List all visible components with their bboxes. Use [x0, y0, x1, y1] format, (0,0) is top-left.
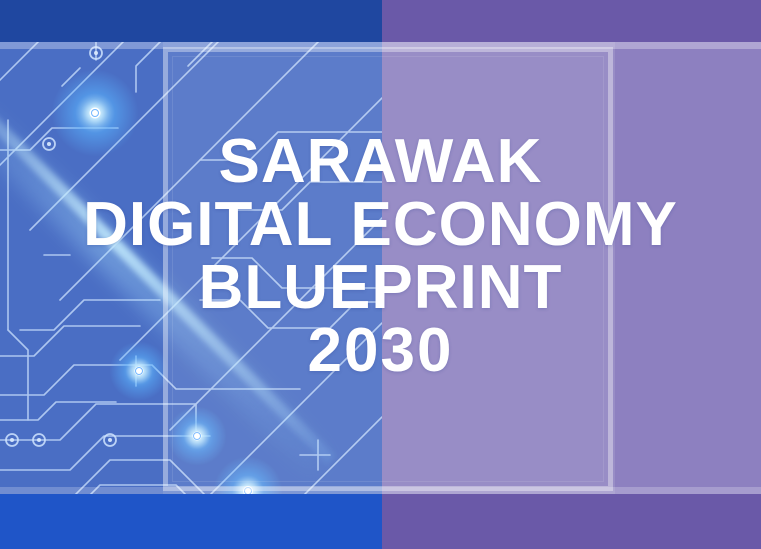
- top-band-blue: [0, 0, 382, 42]
- top-band-purple: [382, 0, 761, 42]
- decorative-square-frame-inner: [172, 56, 604, 482]
- bottom-band-purple: [382, 494, 761, 549]
- top-highlight-band: [0, 42, 761, 49]
- bottom-highlight-band: [0, 487, 761, 494]
- bottom-band-blue: [0, 494, 382, 549]
- bottom-band: [0, 494, 761, 549]
- poster-canvas: SARAWAK DIGITAL ECONOMY BLUEPRINT 2030: [0, 0, 761, 549]
- top-band: [0, 0, 761, 42]
